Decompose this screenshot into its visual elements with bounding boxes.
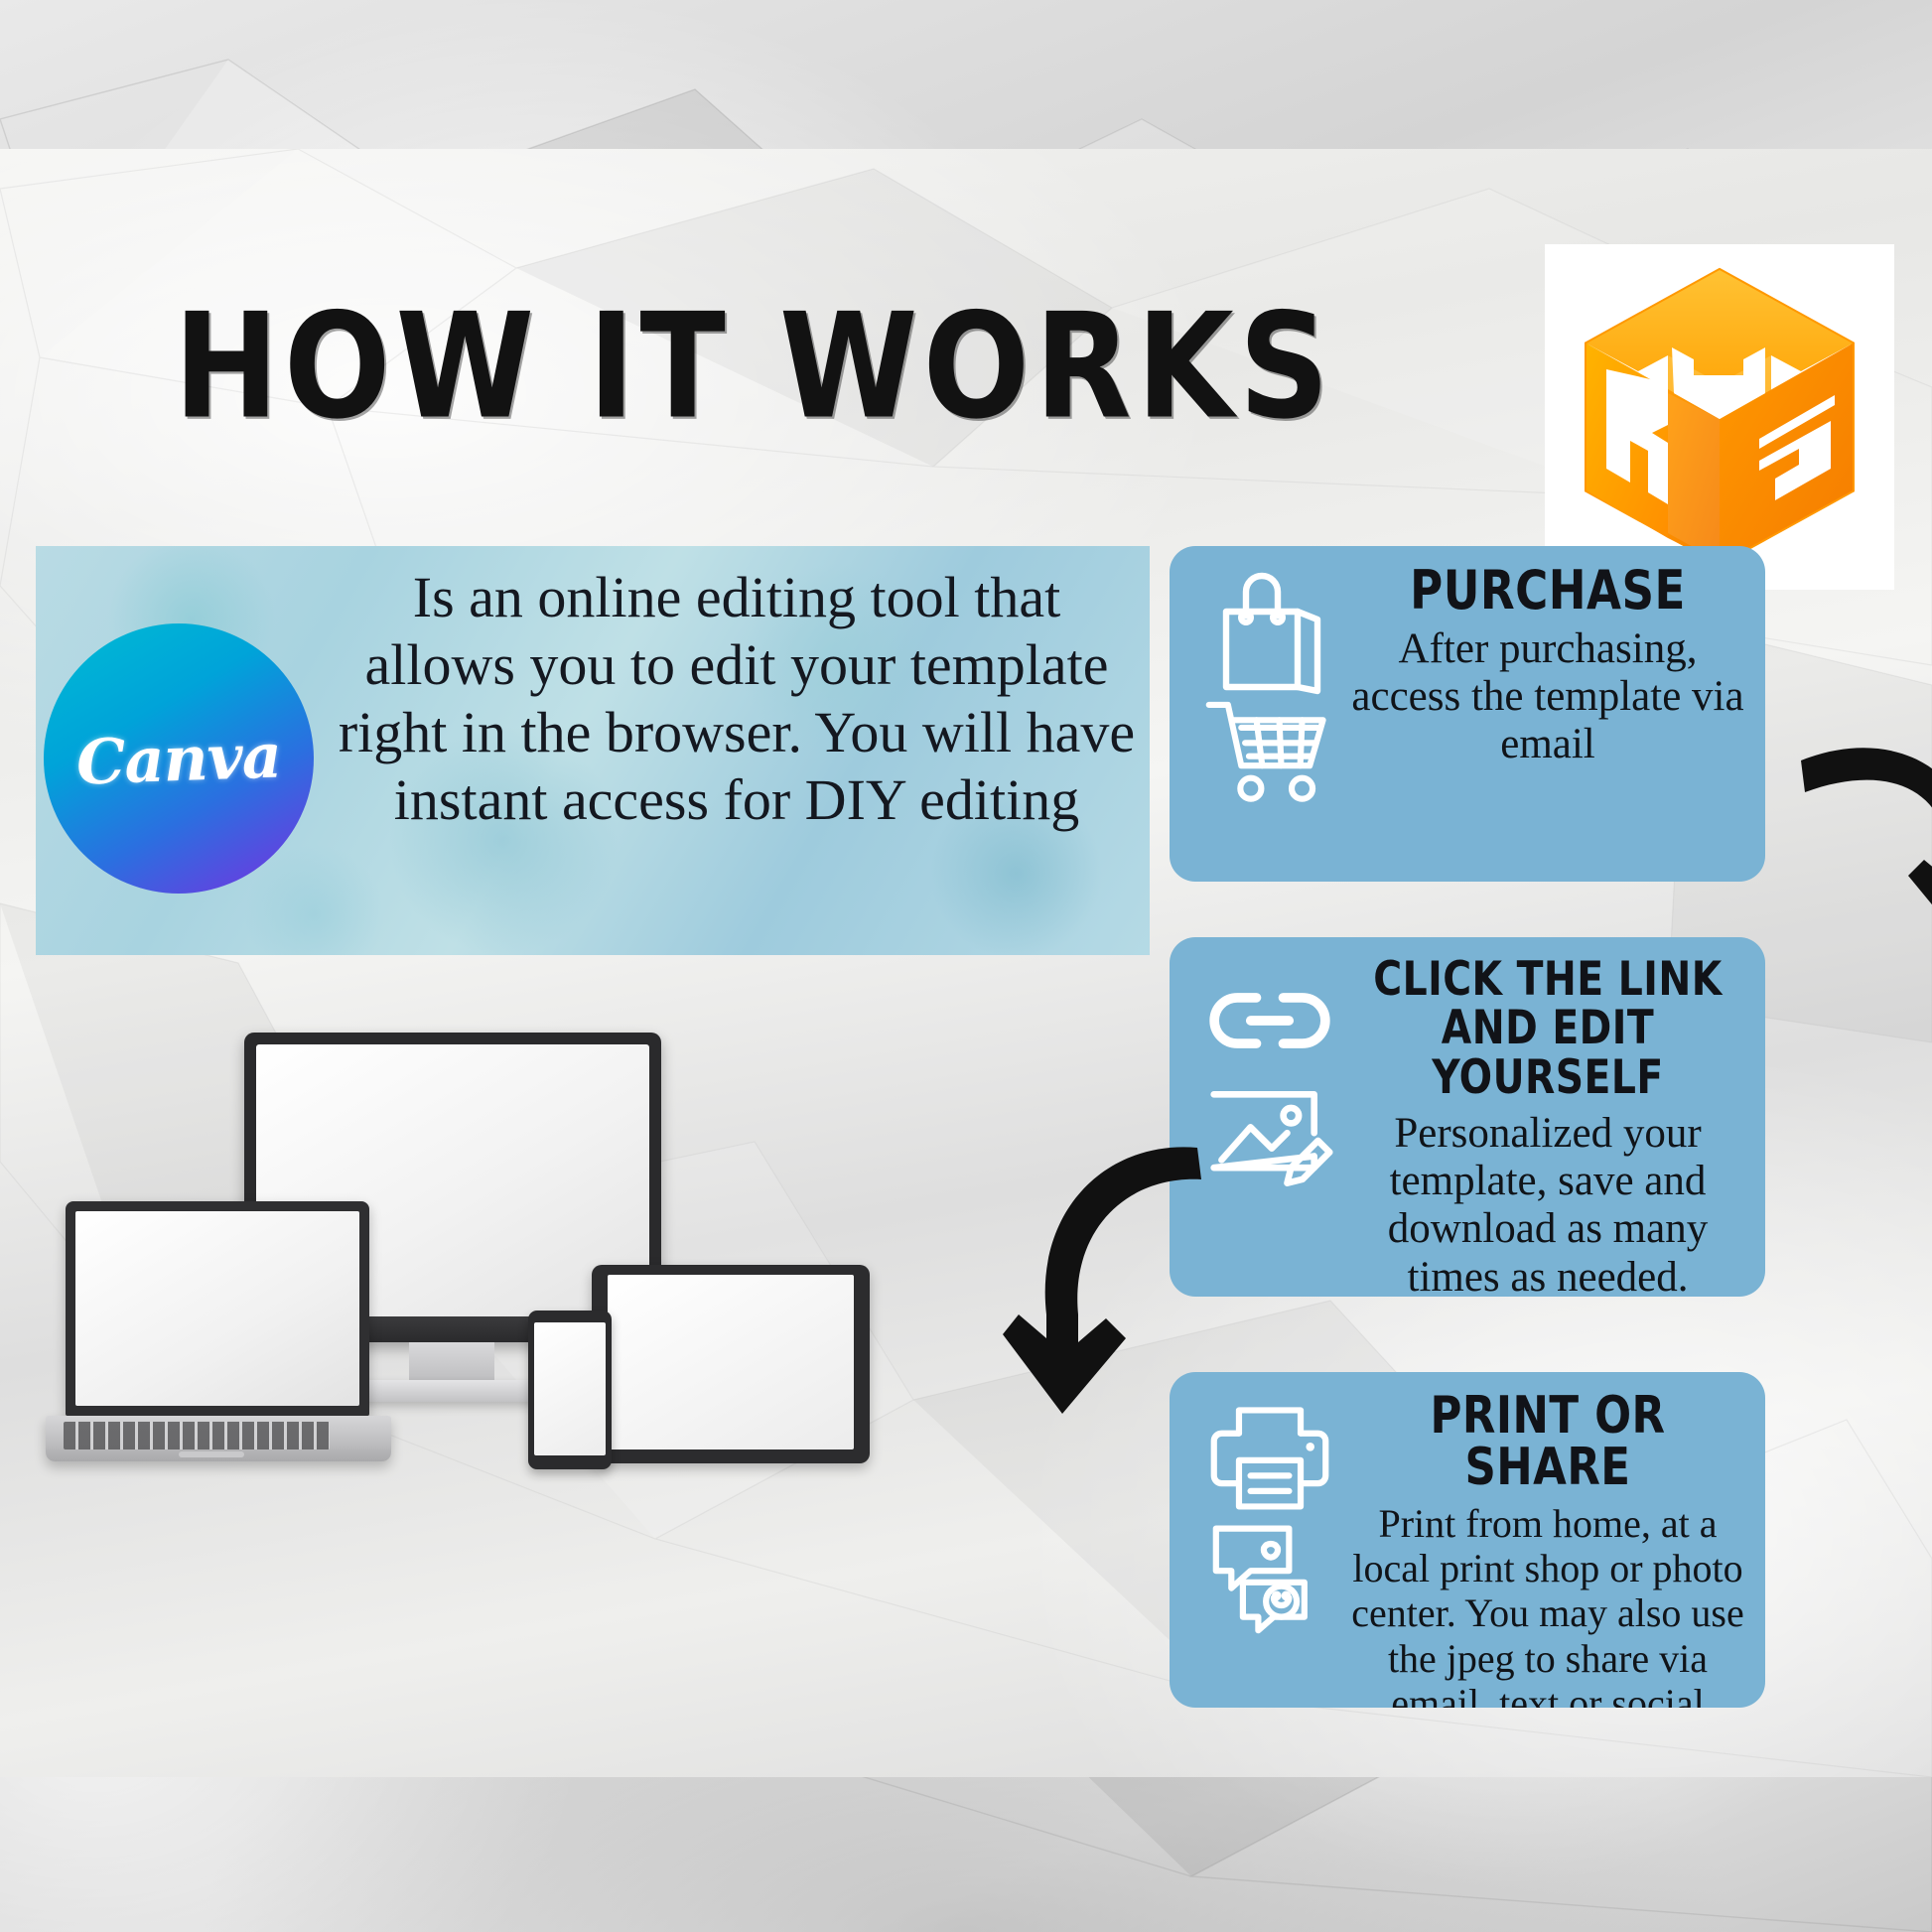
step-card-print[interactable]: PRINT OR SHARE Print from home, at a loc… bbox=[1170, 1372, 1765, 1708]
purchase-icons bbox=[1187, 568, 1352, 804]
laptop-keyboard bbox=[64, 1422, 330, 1449]
canva-logo-badge: Canva bbox=[44, 623, 314, 894]
print-icons bbox=[1187, 1394, 1352, 1636]
print-title: PRINT OR SHARE bbox=[1358, 1390, 1736, 1493]
laptop-trackpad bbox=[179, 1451, 244, 1457]
canva-logo-text: Canva bbox=[75, 719, 282, 798]
link-icon bbox=[1204, 969, 1335, 1072]
canva-info-panel: Canva Is an online editing tool that all… bbox=[36, 546, 1150, 955]
share-social-icon bbox=[1204, 1517, 1335, 1636]
print-body: PRINT OR SHARE Print from home, at a loc… bbox=[1344, 1390, 1751, 1708]
edit-title: CLICK THE LINK AND EDIT YOURSELF bbox=[1358, 955, 1736, 1102]
laptop bbox=[66, 1201, 369, 1416]
shopping-cart-icon bbox=[1203, 693, 1336, 804]
edit-body: CLICK THE LINK AND EDIT YOURSELF Persona… bbox=[1344, 955, 1751, 1297]
page-title: HOW IT WORKS bbox=[174, 283, 1334, 452]
arrow-edit-to-print bbox=[1003, 1132, 1251, 1430]
shopping-bag-icon bbox=[1206, 568, 1333, 699]
monitor-base bbox=[357, 1380, 548, 1402]
brand-logo bbox=[1545, 244, 1894, 590]
edit-description: Personalized your template, save and dow… bbox=[1344, 1110, 1751, 1297]
purchase-title: PURCHASE bbox=[1358, 564, 1736, 618]
tablet bbox=[592, 1265, 870, 1463]
step-card-purchase[interactable]: PURCHASE After purchasing, access the te… bbox=[1170, 546, 1765, 882]
print-description: Print from home, at a local print shop o… bbox=[1344, 1501, 1751, 1708]
hrg-cube-icon bbox=[1545, 244, 1894, 590]
step-card-edit[interactable]: CLICK THE LINK AND EDIT YOURSELF Persona… bbox=[1170, 937, 1765, 1297]
purchase-description: After purchasing, access the template vi… bbox=[1344, 625, 1751, 768]
arrow-purchase-to-edit bbox=[1793, 725, 1932, 993]
canva-description: Is an online editing tool that allows yo… bbox=[334, 564, 1140, 833]
monitor-neck bbox=[409, 1342, 494, 1384]
smartphone bbox=[528, 1311, 612, 1469]
tablet-screen bbox=[608, 1275, 854, 1449]
laptop-screen bbox=[75, 1211, 359, 1406]
purchase-body: PURCHASE After purchasing, access the te… bbox=[1344, 564, 1751, 768]
phone-screen bbox=[534, 1322, 606, 1455]
device-mockup bbox=[30, 1023, 1013, 1588]
